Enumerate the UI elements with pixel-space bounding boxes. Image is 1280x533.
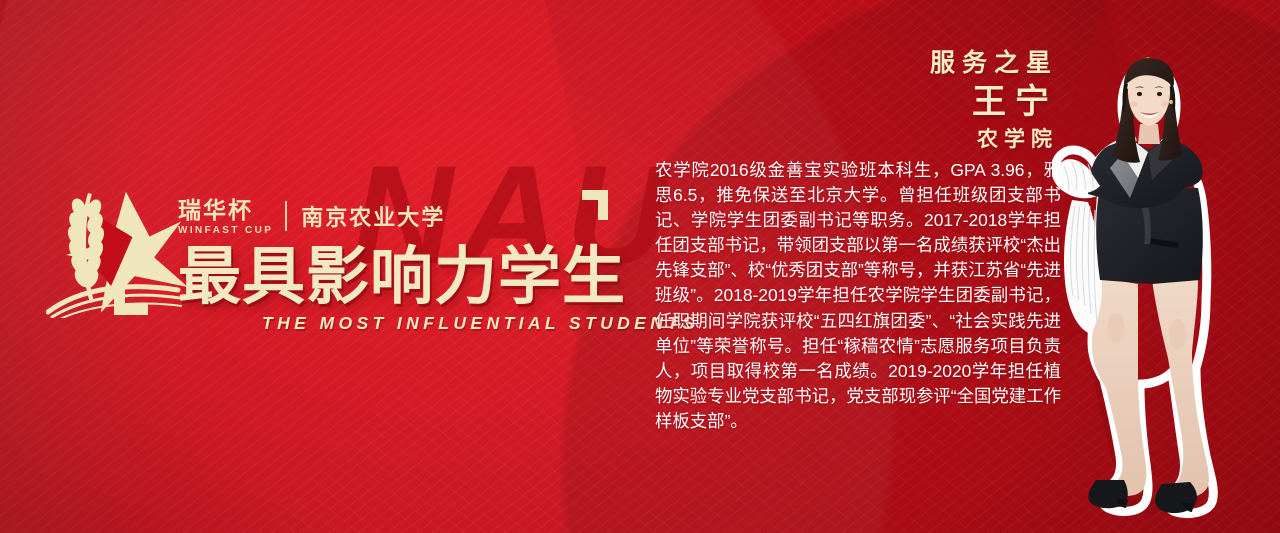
cup-name-en: WINFAST CUP [178,225,273,236]
star-wheat-emblem-icon [22,186,184,318]
honoree-role: 服务之星 [930,48,1058,79]
university-name: 南京农业大学 [301,200,445,236]
cup-name-cn: 瑞华杯 [178,198,253,222]
bracket-bottom-left-icon [114,281,148,315]
cup-logo: 瑞华杯 WINFAST CUP [178,198,273,236]
logo-divider [285,201,287,231]
honoree-name: 王宁 [930,80,1058,124]
honoree-name-block: 服务之星 王宁 农学院 [930,48,1058,155]
award-title-block: 瑞华杯 WINFAST CUP 南京农业大学 最具影响力学生 THE MOST … [178,196,608,334]
bracket-top-right-icon [582,190,608,220]
portrait-illustration-icon [1052,28,1252,533]
award-title-en: THE MOST INFLUENTIAL STUDENTS [262,313,608,334]
honoree-bio-text: 农学院2016级金善宝实验班本科生，GPA 3.96，雅思6.5，推免保送至北京… [655,158,1061,434]
honoree-portrait [1052,28,1252,533]
award-title-cn: 最具影响力学生 [178,246,608,309]
honoree-college: 农学院 [930,126,1058,154]
award-banner: NAU [0,0,1280,533]
cup-logo-row: 瑞华杯 WINFAST CUP 南京农业大学 [178,196,608,236]
